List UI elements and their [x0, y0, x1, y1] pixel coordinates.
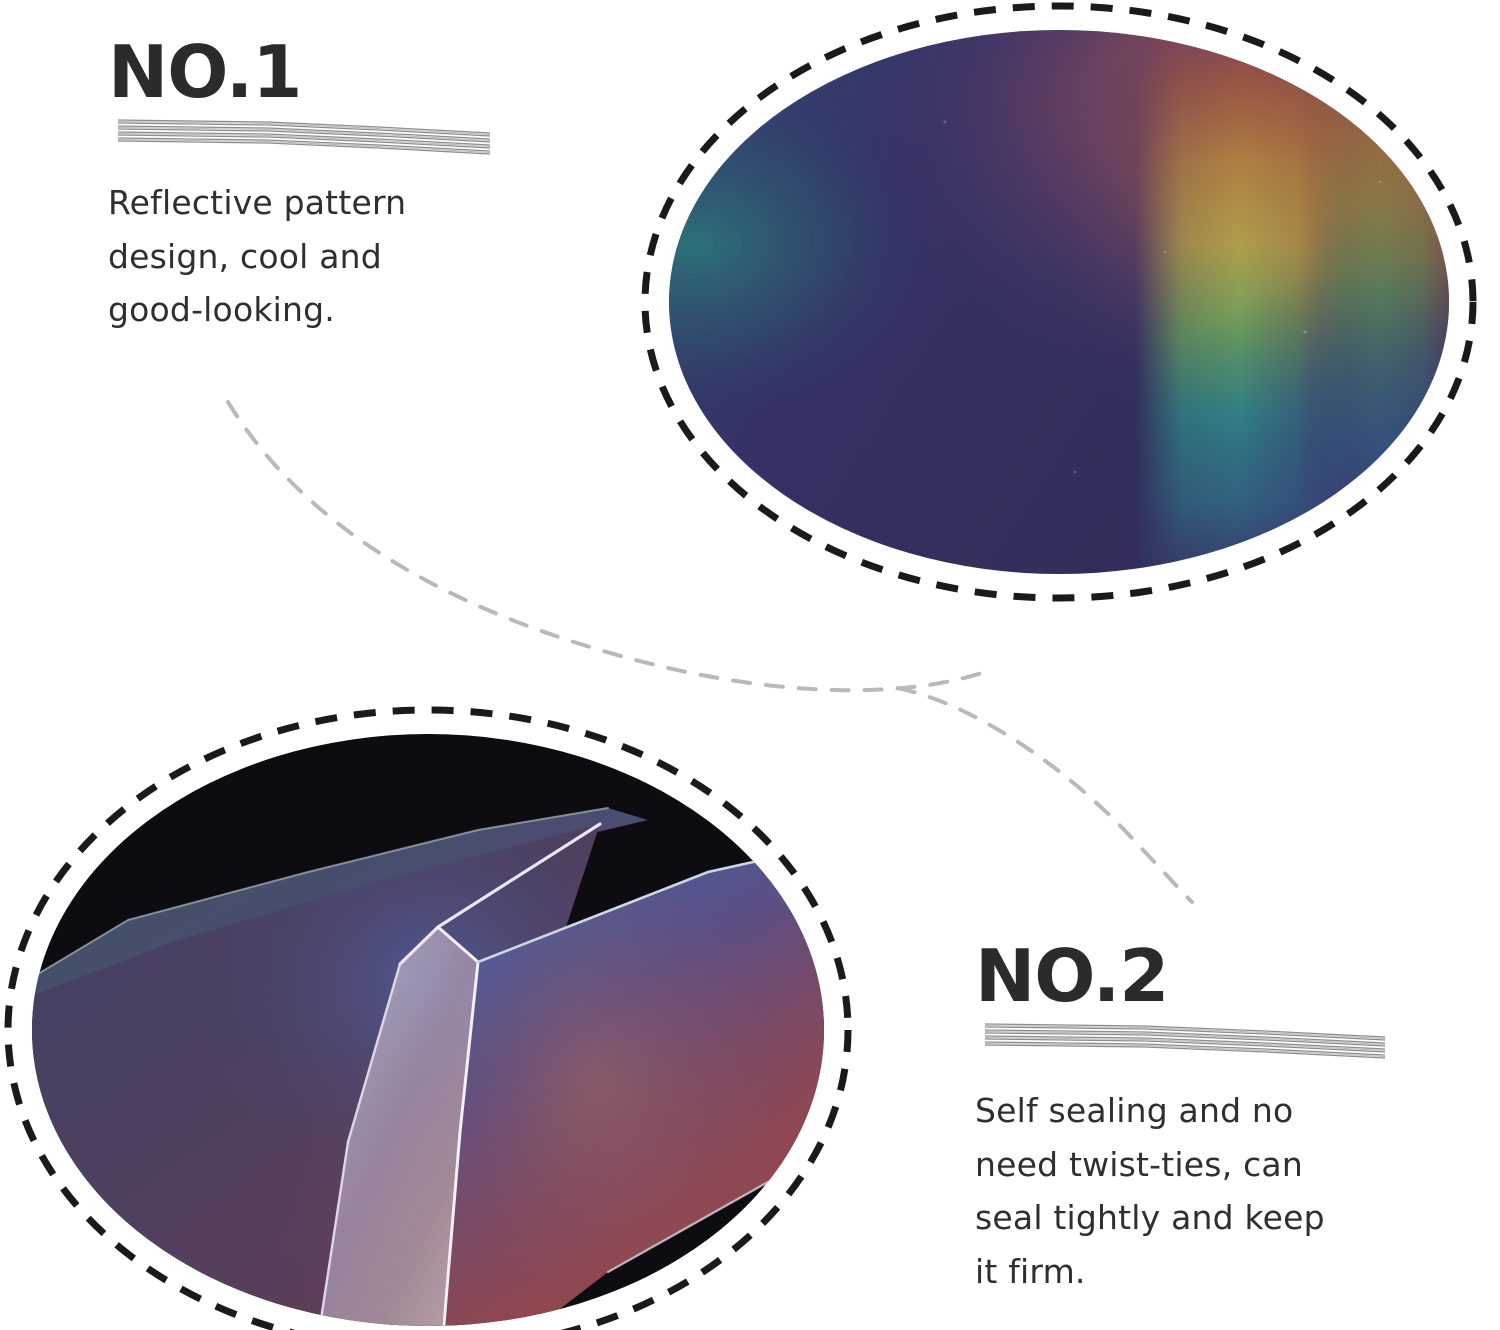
feature-body-line: need twist-ties, can — [975, 1138, 1405, 1191]
feature-heading-no-1: NO.1 — [108, 38, 528, 106]
feature-block-no-2: NO.2 — [975, 942, 1405, 1298]
photo-holographic-sheet-closeup — [645, 2, 1493, 610]
infographic-page: NO.1 — [0, 0, 1500, 1330]
heading-rule-no-1 — [118, 114, 490, 154]
feature-body-line: good-looking. — [108, 283, 528, 336]
photo-holographic-bags-black-background — [8, 712, 874, 1330]
heading-rule-no-2 — [985, 1018, 1385, 1058]
feature-body-line: it firm. — [975, 1245, 1405, 1298]
feature-body-line: Reflective pattern — [108, 176, 528, 229]
feature-body-no-1: Reflective pattern design, cool and good… — [108, 176, 528, 336]
feature-heading-no-2: NO.2 — [975, 942, 1405, 1010]
feature-body-line: Self sealing and no — [975, 1084, 1405, 1137]
feature-body-line: seal tightly and keep — [975, 1191, 1405, 1244]
connector-bottom-oval-to-no2 — [898, 688, 1192, 902]
feature-body-line: design, cool and — [108, 230, 528, 283]
feature-block-no-1: NO.1 — [108, 38, 528, 337]
feature-body-no-2: Self sealing and no need twist-ties, can… — [975, 1084, 1405, 1298]
